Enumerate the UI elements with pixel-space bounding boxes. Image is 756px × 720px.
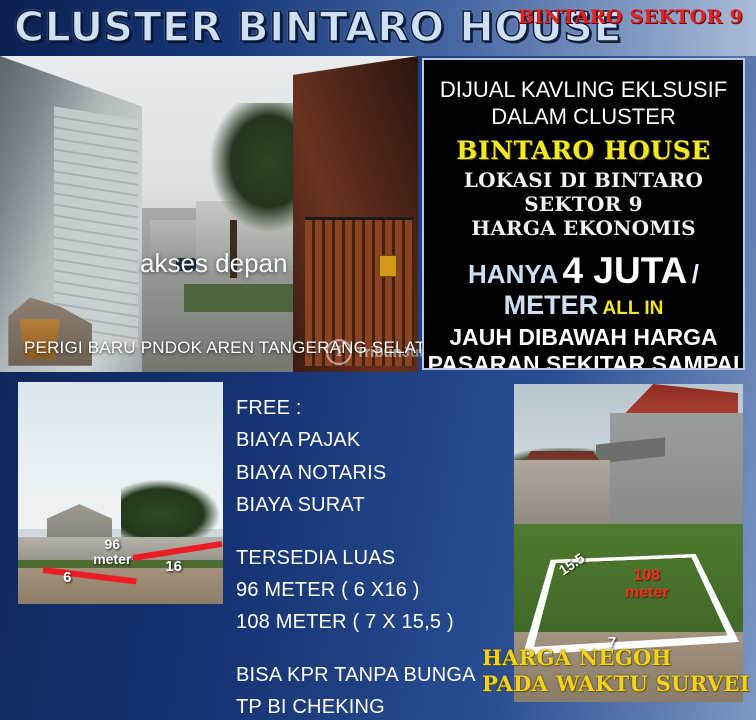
offer-brand-name: BINTARO HOUSE — [424, 136, 743, 165]
features-finance-line-1: BISA KPR TANPA BUNGA — [236, 659, 504, 691]
offer-price-prefix: HANYA — [468, 259, 558, 289]
features-free-item: BIAYA NOTARIS — [236, 457, 504, 489]
photo-plot-96: 96 meter 6 16 — [18, 382, 223, 604]
negotiation-line-1: HARGA NEGOH — [482, 645, 752, 671]
offer-price-slash: / — [692, 259, 699, 289]
watermark-logo-icon: T — [326, 339, 352, 365]
plot-area-unit: meter — [93, 552, 131, 567]
features-size-item: 108 METER ( 7 X 15,5 ) — [236, 606, 504, 638]
neighbor-house — [514, 460, 610, 530]
plot-area-label: 108 meter — [625, 568, 669, 602]
gate-sign-icon — [379, 255, 397, 277]
features-free-item: BIAYA PAJAK — [236, 424, 504, 456]
features-sizes-heading: TERSEDIA LUAS — [236, 542, 504, 574]
offer-allin-badge: ALL IN — [603, 298, 664, 319]
poster-header: CLUSTER BINTARO HOUSE BINTARO SEKTOR 9 — [0, 0, 756, 56]
offer-compare-line-1: JAUH DIBAWAH HARGA — [424, 324, 743, 351]
tree-canopy — [121, 480, 219, 538]
offer-price-primary: HANYA 4 JUTA / — [424, 250, 743, 292]
plot-area-unit: meter — [625, 585, 669, 602]
spacer — [236, 639, 504, 659]
offer-line-2: DALAM CLUSTER — [424, 104, 743, 131]
offer-location: LOKASI DI BINTARO SEKTOR 9 — [424, 168, 743, 216]
header-subtitle: BINTARO SEKTOR 9 — [518, 6, 743, 28]
plot-area-value: 96 — [93, 537, 131, 552]
negotiation-callout: HARGA NEGOH PADA WAKTU SURVEI — [482, 645, 752, 698]
photo-access-road — [0, 56, 418, 372]
plot-area-label: 96 meter — [93, 537, 131, 566]
spacer — [236, 522, 504, 542]
negotiation-line-2: PADA WAKTU SURVEI — [482, 671, 752, 697]
offer-compare-line-2: PASARAN SEKITAR SAMPAI — [424, 351, 743, 370]
plot-length-label: 16 — [165, 558, 182, 575]
offer-price-amount: 4 JUTA — [563, 250, 688, 291]
features-size-item: 96 METER ( 6 X16 ) — [236, 574, 504, 606]
offer-price-unit-row: METER ALL IN — [424, 290, 743, 321]
plot-area-value: 108 — [625, 568, 669, 585]
photo-caption-access: akses depan — [140, 248, 287, 279]
plot-width-label: 6 — [63, 569, 71, 586]
features-list: FREE : BIAYA PAJAK BIAYA NOTARIS BIAYA S… — [236, 392, 504, 720]
offer-panel: DIJUAL KAVLING EKLSUSIF DALAM CLUSTER BI… — [422, 58, 745, 370]
offer-line-1: DIJUAL KAVLING EKLSUSIF — [424, 77, 743, 104]
features-finance-line-2: TP BI CHEKING — [236, 691, 504, 720]
features-free-item: BIAYA SURAT — [236, 489, 504, 521]
features-free-heading: FREE : — [236, 392, 504, 424]
offer-price-unit: METER — [504, 290, 599, 320]
watermark-text-part1: Tribun — [356, 344, 402, 361]
poster-root: CLUSTER BINTARO HOUSE BINTARO SEKTOR 9 a… — [0, 0, 756, 720]
offer-economy-label: HARGA EKONOMIS — [424, 216, 743, 240]
